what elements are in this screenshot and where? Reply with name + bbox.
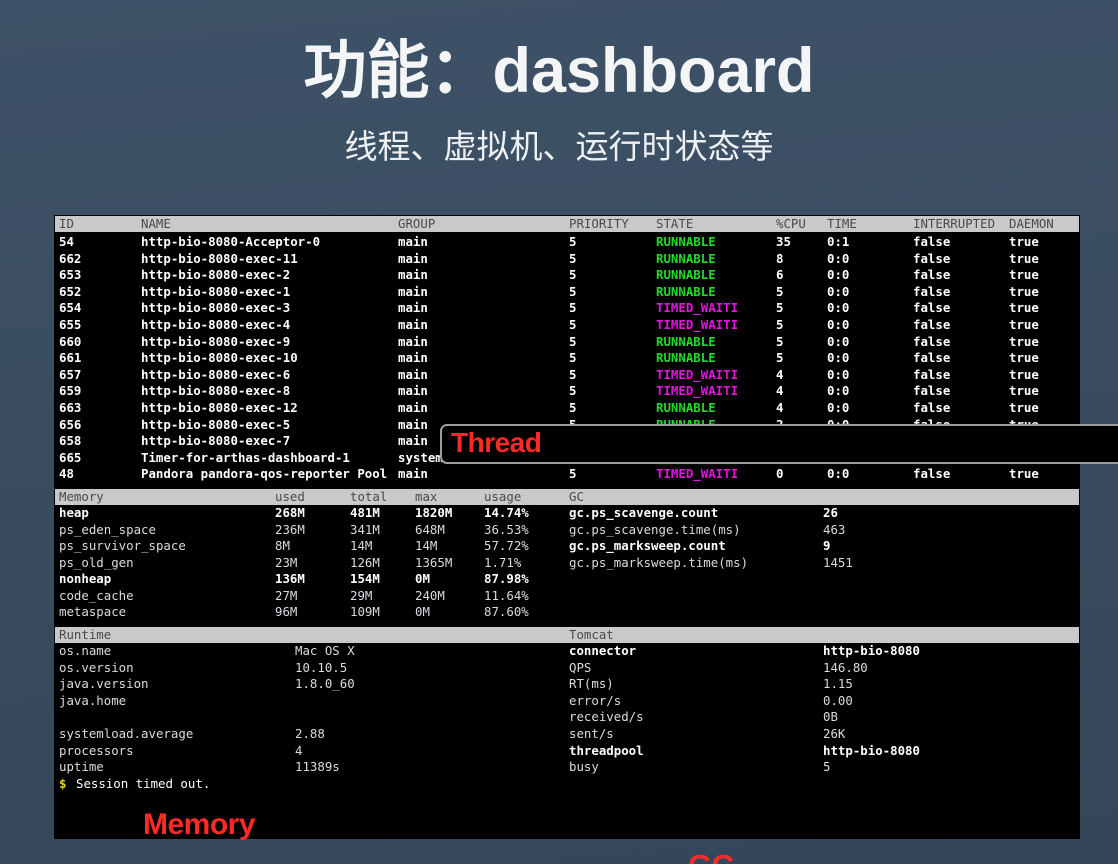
thread-daemon: true <box>1009 267 1039 284</box>
memory-max: 1365M <box>415 555 452 572</box>
table-row: 654http-bio-8080-exec-3main5TIMED_WAITI5… <box>55 300 1079 317</box>
thread-interrupted: false <box>913 267 950 284</box>
thread-priority: 5 <box>569 284 576 301</box>
column-header-name: NAME <box>141 216 171 232</box>
shell-prompt-line[interactable]: $ Session timed out. <box>55 776 1079 793</box>
thread-interrupted: false <box>913 300 950 317</box>
thread-priority: 5 <box>569 317 576 334</box>
memory-total: 154M <box>350 571 380 588</box>
thread-state: RUNNABLE <box>656 234 716 251</box>
memory-usage: 87.60% <box>484 604 529 621</box>
memory-used: 23M <box>275 555 297 572</box>
thread-state: RUNNABLE <box>656 251 716 268</box>
thread-cpu: 4 <box>776 383 783 400</box>
table-row: java.version1.8.0_60RT(ms)1.15 <box>55 676 1079 693</box>
table-row: heap268M481M1820M14.74%gc.ps_scavenge.co… <box>55 505 1079 522</box>
column-header-usage: usage <box>484 489 521 505</box>
table-row: 54http-bio-8080-Acceptor-0main5RUNNABLE3… <box>55 234 1079 251</box>
thread-time: 0:0 <box>827 300 849 317</box>
memory-max: 0M <box>415 604 430 621</box>
memory-max: 1820M <box>415 505 452 522</box>
terminal-window[interactable]: ID NAME GROUP PRIORITY STATE %CPU TIME I… <box>55 216 1079 838</box>
thread-daemon: true <box>1009 400 1039 417</box>
thread-state: TIMED_WAITI <box>656 367 738 384</box>
prompt-message: Session timed out. <box>76 776 210 793</box>
thread-name: http-bio-8080-exec-2 <box>141 267 290 284</box>
thread-cpu: 8 <box>776 251 783 268</box>
memory-used: 236M <box>275 522 305 539</box>
runtime-name: uptime <box>59 759 104 776</box>
memory-name: heap <box>59 505 89 522</box>
thread-id: 659 <box>59 383 81 400</box>
thread-name: Pandora pandora-qos-reporter Pool <box>141 466 387 483</box>
column-header-max: max <box>415 489 437 505</box>
column-header-group: GROUP <box>398 216 435 232</box>
memory-name: metaspace <box>59 604 126 621</box>
thread-name: http-bio-8080-exec-9 <box>141 334 290 351</box>
memory-used: 8M <box>275 538 290 555</box>
memory-usage: 1.71% <box>484 555 521 572</box>
gc-value: 26 <box>823 505 838 522</box>
thread-group: system <box>398 450 443 467</box>
thread-time: 0:0 <box>827 400 849 417</box>
page-subtitle: 线程、虚拟机、运行时状态等 <box>0 127 1118 167</box>
table-row: ps_old_gen23M126M1365M1.71%gc.ps_markswe… <box>55 555 1079 572</box>
column-header-time: TIME <box>827 216 857 232</box>
runtime-value: 2.88 <box>295 726 325 743</box>
thread-state: RUNNABLE <box>656 400 716 417</box>
column-header-runtime: Runtime <box>59 627 111 643</box>
memory-used: 96M <box>275 604 297 621</box>
memory-name: nonheap <box>59 571 111 588</box>
thread-name: Timer-for-arthas-dashboard-1 <box>141 450 350 467</box>
thread-daemon: true <box>1009 251 1039 268</box>
thread-group: main <box>398 251 428 268</box>
thread-interrupted: false <box>913 350 950 367</box>
thread-priority: 5 <box>569 383 576 400</box>
table-row: 655http-bio-8080-exec-4main5TIMED_WAITI5… <box>55 317 1079 334</box>
memory-usage: 14.74% <box>484 505 529 522</box>
runtime-name: java.version <box>59 676 149 693</box>
table-row: 652http-bio-8080-exec-1main5RUNNABLE50:0… <box>55 284 1079 301</box>
runtime-value: 4 <box>295 743 302 760</box>
memory-total: 126M <box>350 555 380 572</box>
memory-usage: 36.53% <box>484 522 529 539</box>
thread-group: main <box>398 383 428 400</box>
column-header-daemon: DAEMON <box>1009 216 1054 232</box>
column-header-used: used <box>275 489 305 505</box>
thread-state: TIMED_WAITI <box>656 383 738 400</box>
thread-cpu: 6 <box>776 267 783 284</box>
thread-interrupted: false <box>913 284 950 301</box>
thread-time: 0:0 <box>827 367 849 384</box>
memory-used: 27M <box>275 588 297 605</box>
thread-id: 662 <box>59 251 81 268</box>
table-row: ps_eden_space236M341M648M36.53%gc.ps_sca… <box>55 522 1079 539</box>
memory-max: 0M <box>415 571 430 588</box>
table-row: os.version10.10.5QPS146.80 <box>55 660 1079 677</box>
thread-name: http-bio-8080-exec-5 <box>141 417 290 434</box>
table-row: 662http-bio-8080-exec-11main5RUNNABLE80:… <box>55 251 1079 268</box>
thread-time: 0:0 <box>827 251 849 268</box>
thread-state: RUNNABLE <box>656 334 716 351</box>
table-row: nonheap136M154M0M87.98% <box>55 571 1079 588</box>
thread-priority: 5 <box>569 350 576 367</box>
column-header-priority: PRIORITY <box>569 216 629 232</box>
thread-cpu: 4 <box>776 400 783 417</box>
thread-name: http-bio-8080-exec-7 <box>141 433 290 450</box>
memory-total: 341M <box>350 522 380 539</box>
memory-used: 268M <box>275 505 305 522</box>
column-header-memory: Memory <box>59 489 104 505</box>
thread-time: 0:0 <box>827 267 849 284</box>
memory-name: ps_survivor_space <box>59 538 186 555</box>
thread-cpu: 5 <box>776 317 783 334</box>
tomcat-value: 0.00 <box>823 693 853 710</box>
memory-total: 481M <box>350 505 380 522</box>
thread-group: main <box>398 400 428 417</box>
thread-daemon: true <box>1009 300 1039 317</box>
column-header-id: ID <box>59 216 74 232</box>
gc-name: gc.ps_scavenge.count <box>569 505 718 522</box>
slide-root: 功能：dashboard 线程、虚拟机、运行时状态等 ID NAME GROUP… <box>0 0 1118 864</box>
annotation-memory: Memory <box>143 808 1118 842</box>
tomcat-name: error/s <box>569 693 621 710</box>
tomcat-value: 0B <box>823 709 838 726</box>
runtime-tomcat-header-row: Runtime Tomcat <box>55 627 1079 643</box>
thread-id: 661 <box>59 350 81 367</box>
memory-used: 136M <box>275 571 305 588</box>
runtime-name: os.version <box>59 660 134 677</box>
thread-group: main <box>398 466 428 483</box>
thread-group: main <box>398 267 428 284</box>
thread-daemon: true <box>1009 350 1039 367</box>
thread-priority: 5 <box>569 300 576 317</box>
table-row: code_cache27M29M240M11.64% <box>55 588 1079 605</box>
thread-id: 663 <box>59 400 81 417</box>
thread-id: 658 <box>59 433 81 450</box>
thread-interrupted: false <box>913 251 950 268</box>
tomcat-value: http-bio-8080 <box>823 743 920 760</box>
table-row: 663http-bio-8080-exec-12main5RUNNABLE40:… <box>55 400 1079 417</box>
table-row: processors4threadpoolhttp-bio-8080 <box>55 743 1079 760</box>
thread-id: 653 <box>59 267 81 284</box>
thread-priority: 5 <box>569 251 576 268</box>
column-header-tomcat: Tomcat <box>569 627 614 643</box>
thread-priority: 5 <box>569 267 576 284</box>
gc-value: 9 <box>823 538 830 555</box>
runtime-name: systemload.average <box>59 726 193 743</box>
thread-daemon: true <box>1009 466 1039 483</box>
runtime-tomcat-table-body: os.nameMac OS Xconnectorhttp-bio-8080os.… <box>55 643 1079 776</box>
thread-state: RUNNABLE <box>656 350 716 367</box>
thread-cpu: 5 <box>776 350 783 367</box>
thread-id: 656 <box>59 417 81 434</box>
thread-time: 0:0 <box>827 466 849 483</box>
memory-max: 14M <box>415 538 437 555</box>
thread-state: TIMED_WAITI <box>656 317 738 334</box>
thread-priority: 5 <box>569 466 576 483</box>
runtime-name: processors <box>59 743 134 760</box>
thread-cpu: 5 <box>776 300 783 317</box>
tomcat-value: 146.80 <box>823 660 868 677</box>
thread-daemon: true <box>1009 317 1039 334</box>
thread-daemon: true <box>1009 383 1039 400</box>
thread-time: 0:0 <box>827 350 849 367</box>
memory-name: ps_eden_space <box>59 522 156 539</box>
table-row: 659http-bio-8080-exec-8main5TIMED_WAITI4… <box>55 383 1079 400</box>
thread-group: main <box>398 317 428 334</box>
thread-time: 0:0 <box>827 334 849 351</box>
tomcat-name: received/s <box>569 709 644 726</box>
column-header-total: total <box>350 489 387 505</box>
thread-cpu: 4 <box>776 367 783 384</box>
prompt-symbol: $ <box>59 776 66 793</box>
thread-priority: 5 <box>569 367 576 384</box>
column-header-gc: GC <box>569 489 584 505</box>
thread-name: http-bio-8080-Acceptor-0 <box>141 234 320 251</box>
runtime-value: Mac OS X <box>295 643 355 660</box>
thread-group: main <box>398 300 428 317</box>
table-row: java.homeerror/s0.00 <box>55 693 1079 710</box>
memory-total: 109M <box>350 604 380 621</box>
memory-gc-table-body: heap268M481M1820M14.74%gc.ps_scavenge.co… <box>55 505 1079 621</box>
thread-group: main <box>398 350 428 367</box>
table-row: 661http-bio-8080-exec-10main5RUNNABLE50:… <box>55 350 1079 367</box>
tomcat-name: sent/s <box>569 726 614 743</box>
threads-header-row: ID NAME GROUP PRIORITY STATE %CPU TIME I… <box>55 216 1079 232</box>
thread-cpu: 5 <box>776 334 783 351</box>
thread-group: main <box>398 433 428 450</box>
thread-state: RUNNABLE <box>656 284 716 301</box>
gc-value: 463 <box>823 522 845 539</box>
thread-name: http-bio-8080-exec-4 <box>141 317 290 334</box>
memory-max: 240M <box>415 588 445 605</box>
thread-name: http-bio-8080-exec-6 <box>141 367 290 384</box>
runtime-value: 11389s <box>295 759 340 776</box>
thread-interrupted: false <box>913 334 950 351</box>
tomcat-value: 1.15 <box>823 676 853 693</box>
page-title: 功能：dashboard <box>0 36 1118 107</box>
memory-max: 648M <box>415 522 445 539</box>
column-header-cpu: %CPU <box>776 216 806 232</box>
table-row: 660http-bio-8080-exec-9main5RUNNABLE50:0… <box>55 334 1079 351</box>
thread-time: 0:0 <box>827 284 849 301</box>
thread-cpu: 0 <box>776 466 783 483</box>
table-row: received/s0B <box>55 709 1079 726</box>
thread-daemon: true <box>1009 284 1039 301</box>
thread-cpu: 5 <box>776 284 783 301</box>
thread-group: main <box>398 234 428 251</box>
thread-group: main <box>398 334 428 351</box>
thread-id: 665 <box>59 450 81 467</box>
runtime-value: 10.10.5 <box>295 660 347 677</box>
thread-priority: 5 <box>569 234 576 251</box>
memory-name: code_cache <box>59 588 134 605</box>
tomcat-name: threadpool <box>569 743 644 760</box>
thread-time: 0:0 <box>827 383 849 400</box>
thread-id: 54 <box>59 234 74 251</box>
thread-group: main <box>398 284 428 301</box>
table-row: os.nameMac OS Xconnectorhttp-bio-8080 <box>55 643 1079 660</box>
thread-name: http-bio-8080-exec-12 <box>141 400 298 417</box>
thread-id: 660 <box>59 334 81 351</box>
runtime-name: java.home <box>59 693 126 710</box>
annotation-thread: Thread <box>440 424 1118 463</box>
tomcat-name: RT(ms) <box>569 676 614 693</box>
thread-id: 657 <box>59 367 81 384</box>
thread-name: http-bio-8080-exec-11 <box>141 251 298 268</box>
memory-name: ps_old_gen <box>59 555 134 572</box>
thread-name: http-bio-8080-exec-1 <box>141 284 290 301</box>
thread-daemon: true <box>1009 367 1039 384</box>
memory-usage: 57.72% <box>484 538 529 555</box>
thread-interrupted: false <box>913 400 950 417</box>
memory-gc-header-row: Memory used total max usage GC <box>55 489 1079 505</box>
gc-value: 1451 <box>823 555 853 572</box>
thread-time: 0:1 <box>827 234 849 251</box>
thread-id: 655 <box>59 317 81 334</box>
column-header-interrupted: INTERRUPTED <box>913 216 995 232</box>
thread-daemon: true <box>1009 334 1039 351</box>
thread-id: 652 <box>59 284 81 301</box>
column-header-state: STATE <box>656 216 693 232</box>
runtime-value: 1.8.0_60 <box>295 676 355 693</box>
runtime-name: os.name <box>59 643 111 660</box>
gc-name: gc.ps_scavenge.time(ms) <box>569 522 741 539</box>
tomcat-name: connector <box>569 643 636 660</box>
memory-usage: 11.64% <box>484 588 529 605</box>
thread-interrupted: false <box>913 317 950 334</box>
thread-name: http-bio-8080-exec-10 <box>141 350 298 367</box>
thread-group: main <box>398 367 428 384</box>
tomcat-value: http-bio-8080 <box>823 643 920 660</box>
table-row: ps_survivor_space8M14M14M57.72%gc.ps_mar… <box>55 538 1079 555</box>
table-row: systemload.average2.88sent/s26K <box>55 726 1079 743</box>
gc-name: gc.ps_marksweep.count <box>569 538 726 555</box>
tomcat-name: QPS <box>569 660 591 677</box>
tomcat-name: busy <box>569 759 599 776</box>
gc-name: gc.ps_marksweep.time(ms) <box>569 555 748 572</box>
thread-state: TIMED_WAITI <box>656 300 738 317</box>
thread-time: 0:0 <box>827 317 849 334</box>
thread-priority: 5 <box>569 400 576 417</box>
thread-daemon: true <box>1009 234 1039 251</box>
thread-state: RUNNABLE <box>656 267 716 284</box>
tomcat-value: 5 <box>823 759 830 776</box>
thread-interrupted: false <box>913 466 950 483</box>
annotation-gc: GC <box>688 848 1118 864</box>
memory-total: 29M <box>350 588 372 605</box>
memory-usage: 87.98% <box>484 571 529 588</box>
table-row: metaspace96M109M0M87.60% <box>55 604 1079 621</box>
thread-interrupted: false <box>913 367 950 384</box>
thread-name: http-bio-8080-exec-8 <box>141 383 290 400</box>
table-row: 653http-bio-8080-exec-2main5RUNNABLE60:0… <box>55 267 1079 284</box>
thread-interrupted: false <box>913 383 950 400</box>
table-row: 48Pandora pandora-qos-reporter Poolmain5… <box>55 466 1079 483</box>
thread-name: http-bio-8080-exec-3 <box>141 300 290 317</box>
table-row: uptime11389sbusy5 <box>55 759 1079 776</box>
thread-id: 654 <box>59 300 81 317</box>
thread-state: TIMED_WAITI <box>656 466 738 483</box>
thread-cpu: 35 <box>776 234 791 251</box>
title-block: 功能：dashboard 线程、虚拟机、运行时状态等 <box>0 0 1118 166</box>
memory-total: 14M <box>350 538 372 555</box>
thread-id: 48 <box>59 466 74 483</box>
tomcat-value: 26K <box>823 726 845 743</box>
table-row: 657http-bio-8080-exec-6main5TIMED_WAITI4… <box>55 367 1079 384</box>
thread-group: main <box>398 417 428 434</box>
thread-interrupted: false <box>913 234 950 251</box>
thread-priority: 5 <box>569 334 576 351</box>
